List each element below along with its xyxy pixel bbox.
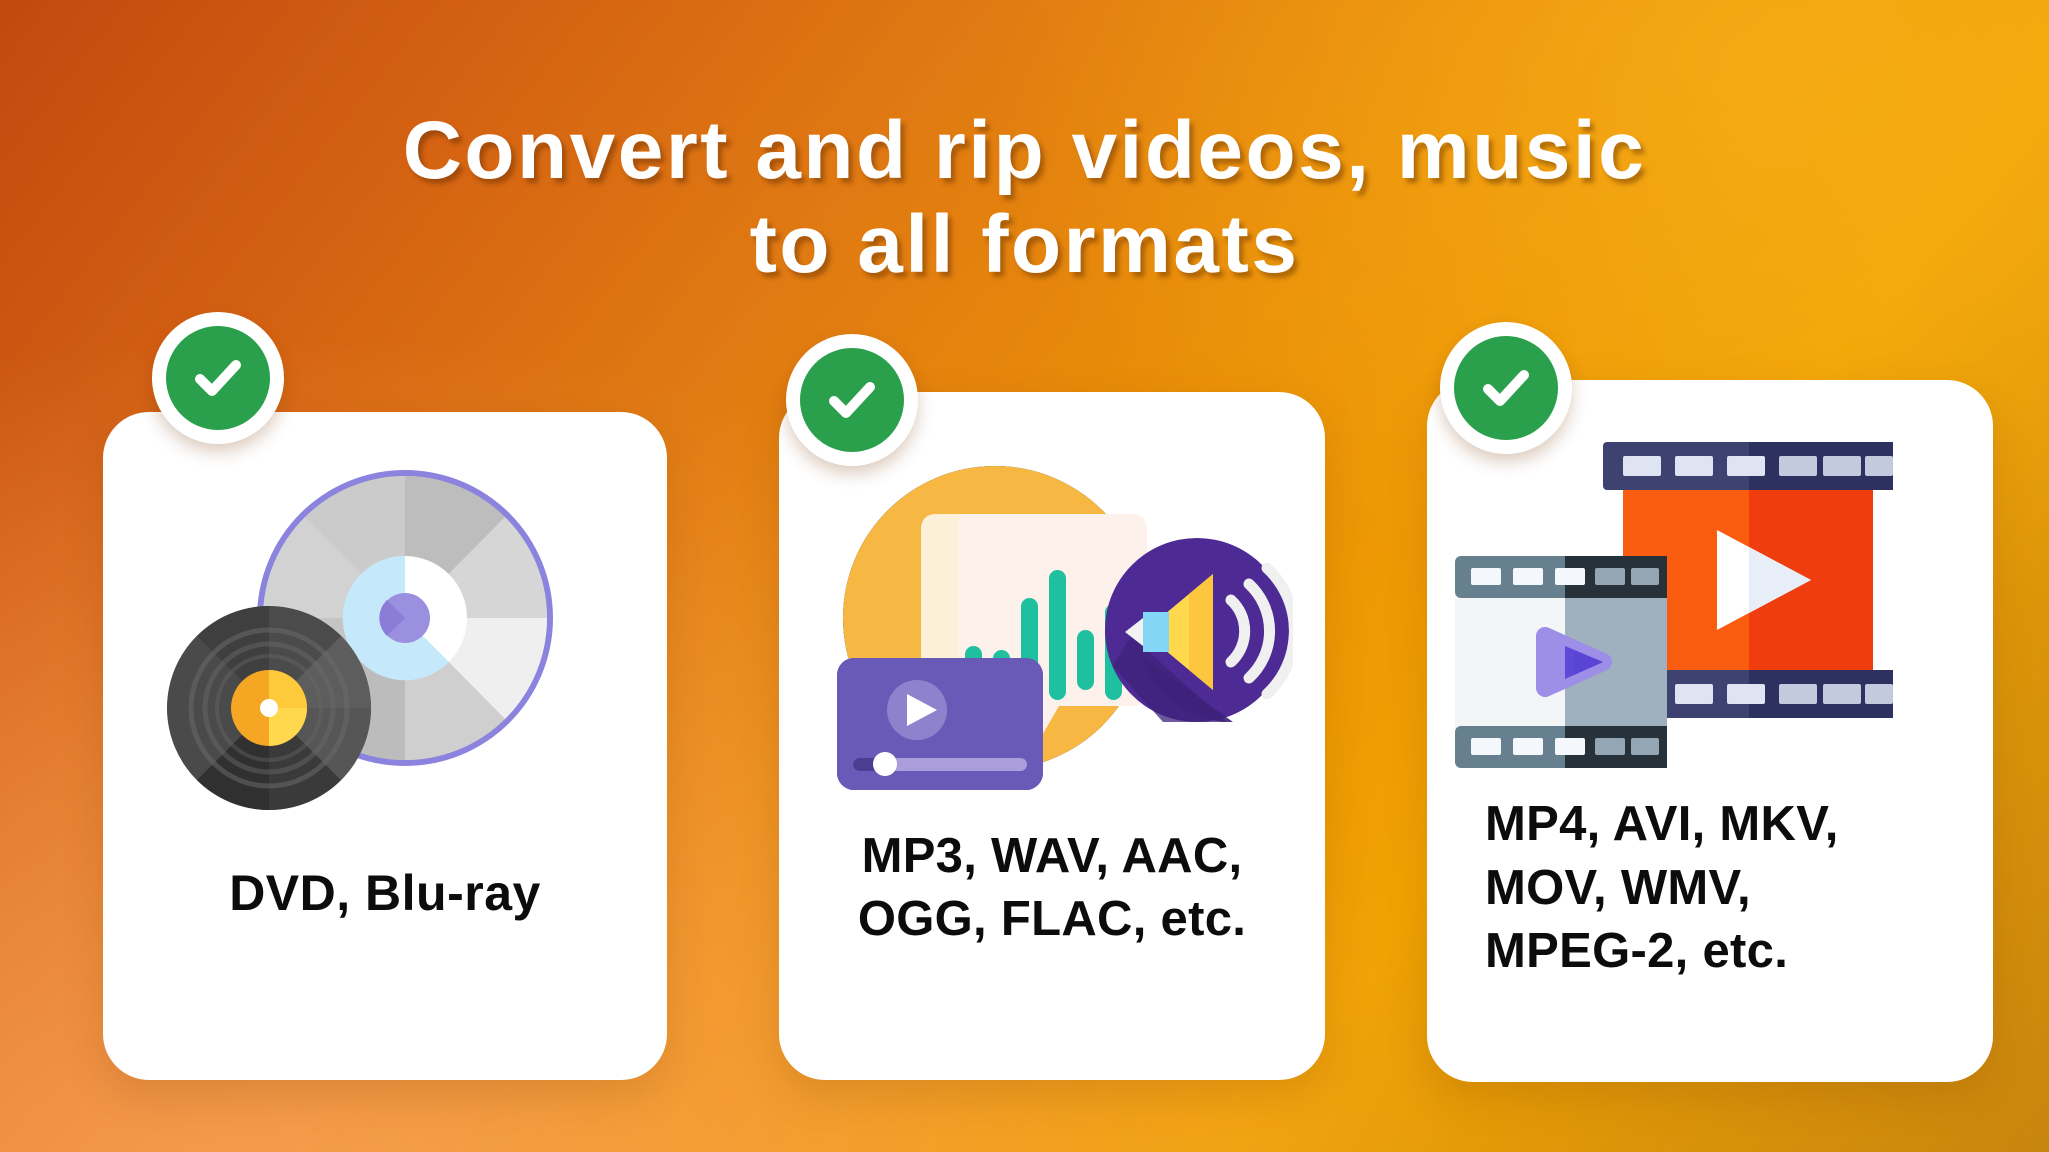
feature-card-dvd[interactable]: DVD, Blu-ray <box>103 412 667 1080</box>
feature-card-dvd-label: DVD, Blu-ray <box>103 861 667 926</box>
optical-disc-icon <box>103 412 667 842</box>
page-title: Convert and rip videos, music to all for… <box>0 104 2049 293</box>
headline-line-2: to all formats <box>60 198 1989 292</box>
feature-card-audio[interactable]: MP3, WAV, AAC, OGG, FLAC, etc. <box>779 392 1325 1080</box>
check-badge-disc <box>1454 336 1558 440</box>
check-badge-dvd <box>152 312 284 444</box>
check-badge-audio <box>786 334 918 466</box>
promo-banner: Convert and rip videos, music to all for… <box>0 0 2049 1152</box>
check-mark-icon <box>1474 356 1538 420</box>
check-badge-disc <box>166 326 270 430</box>
check-badge-disc <box>800 348 904 452</box>
feature-card-audio-label: MP3, WAV, AAC, OGG, FLAC, etc. <box>779 825 1325 952</box>
check-mark-icon <box>820 368 884 432</box>
feature-card-row: DVD, Blu-ray <box>0 378 2049 1078</box>
check-mark-icon <box>186 346 250 410</box>
headline-line-1: Convert and rip videos, music <box>403 105 1647 196</box>
feature-card-video[interactable]: MP4, AVI, MKV, MOV, WMV, MPEG-2, etc. <box>1427 380 1993 1082</box>
check-badge-video <box>1440 322 1572 454</box>
feature-card-video-label: MP4, AVI, MKV, MOV, WMV, MPEG-2, etc. <box>1427 793 1993 984</box>
